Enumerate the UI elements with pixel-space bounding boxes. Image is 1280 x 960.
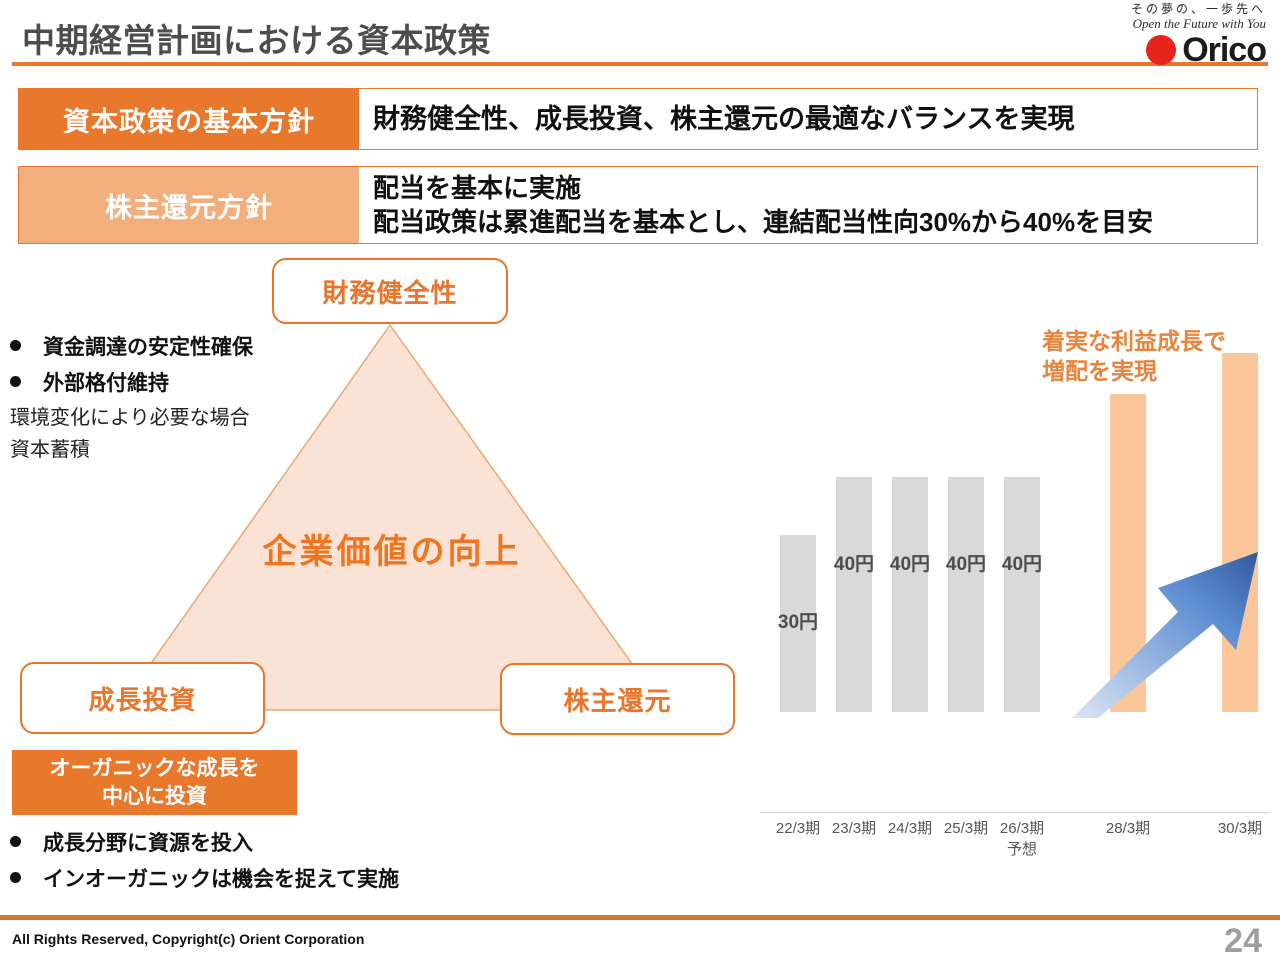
policy-label-basic: 資本政策の基本方針 (19, 89, 359, 149)
list-item: 成長分野に資源を投入 (10, 826, 480, 862)
triangle-center-label: 企業価値の向上 (118, 524, 666, 573)
chart-x-label-main: 26/3期 (977, 818, 1067, 839)
logo-mark-row: Orico (1076, 33, 1266, 67)
logo-wordmark: Orico (1182, 33, 1266, 67)
chart-bar (1222, 353, 1258, 712)
policy-body-basic: 財務健全性、成長投資、株主還元の最適なバランスを実現 (359, 89, 1257, 149)
circle-icon (1146, 35, 1176, 65)
logo-tagline-en: Open the Future with You (1076, 16, 1266, 31)
chart-bar (1110, 394, 1146, 712)
dividend-bar-chart: 30円40円40円40円40円 22/3期23/3期24/3期25/3期26/3… (760, 300, 1270, 770)
chart-x-label-main: 30/3期 (1195, 818, 1280, 839)
list-item-label: 資金調達の安定性確保 (43, 330, 253, 366)
list-item-label: 外部格付維持 (43, 366, 169, 402)
logo-tagline-jp: その夢の、一歩先へ (1076, 2, 1266, 16)
copyright-text: All Rights Reserved, Copyright(c) Orient… (12, 931, 364, 947)
list-item: 外部格付維持 (10, 366, 340, 402)
node-growth-investment[interactable]: 成長投資 (20, 662, 265, 734)
organic-growth-line: オーガニックな成長を (50, 755, 260, 783)
page-title: 中期経営計画における資本政策 (22, 14, 491, 62)
note-line: 環境変化により必要な場合 (10, 402, 340, 434)
chart-axis-line (760, 812, 1270, 813)
page-number: 24 (1224, 922, 1262, 960)
bullet-dot-icon (10, 376, 21, 387)
list-item: 資金調達の安定性確保 (10, 330, 340, 366)
bullet-dot-icon (10, 836, 21, 847)
organic-growth-box: オーガニックな成長を 中心に投資 (12, 750, 297, 815)
policy-row-shareholder-return: 株主還元方針 配当を基本に実施 配当政策は累進配当を基本とし、連結配当性向30%… (18, 166, 1258, 244)
policy-label-shareholder-return: 株主還元方針 (19, 167, 359, 243)
note-line: 資本蓄積 (10, 434, 340, 466)
policy-body-line: 配当を基本に実施 (373, 171, 1257, 205)
bullet-list-financial: 資金調達の安定性確保 外部格付維持 環境変化により必要な場合 資本蓄積 (10, 330, 340, 466)
policy-row-basic: 資本政策の基本方針 財務健全性、成長投資、株主還元の最適なバランスを実現 (18, 88, 1258, 150)
chart-bar (948, 477, 984, 712)
chart-bar (892, 477, 928, 712)
bullet-list-growth: 成長分野に資源を投入 インオーガニックは機会を捉えて実施 (10, 826, 480, 898)
organic-growth-line: 中心に投資 (102, 783, 207, 811)
node-financial-soundness[interactable]: 財務健全性 (272, 258, 508, 324)
chart-x-label: 28/3期 (1083, 818, 1173, 839)
chart-x-label: 30/3期 (1195, 818, 1280, 839)
chart-bar (1004, 477, 1040, 712)
chart-x-label: 26/3期予想 (977, 818, 1067, 860)
chart-plot-area: 30円40円40円40円40円 22/3期23/3期24/3期25/3期26/3… (760, 400, 1270, 712)
company-logo: その夢の、一歩先へ Open the Future with You Orico (1076, 2, 1266, 67)
list-item-label: インオーガニックは機会を捉えて実施 (43, 862, 399, 898)
bullet-dot-icon (10, 340, 21, 351)
policy-body-shareholder-return: 配当を基本に実施 配当政策は累進配当を基本とし、連結配当性向30%から40%を目… (359, 167, 1257, 243)
policy-body-line: 配当政策は累進配当を基本とし、連結配当性向30%から40%を目安 (373, 205, 1257, 239)
bullet-dot-icon (10, 872, 21, 883)
chart-x-label-main: 28/3期 (1083, 818, 1173, 839)
slide-root: 中期経営計画における資本政策 その夢の、一歩先へ Open the Future… (0, 0, 1280, 960)
chart-bar-value-label: 30円 (758, 607, 838, 634)
list-item-label: 成長分野に資源を投入 (43, 826, 253, 862)
chart-bar-value-label: 40円 (982, 549, 1062, 576)
chart-x-label-sub: 予想 (977, 839, 1067, 860)
footer-divider (0, 915, 1280, 920)
list-item: インオーガニックは機会を捉えて実施 (10, 862, 480, 898)
policy-body-line: 財務健全性、成長投資、株主還元の最適なバランスを実現 (373, 102, 1257, 136)
node-shareholder-return[interactable]: 株主還元 (500, 663, 735, 735)
chart-bar (836, 477, 872, 712)
